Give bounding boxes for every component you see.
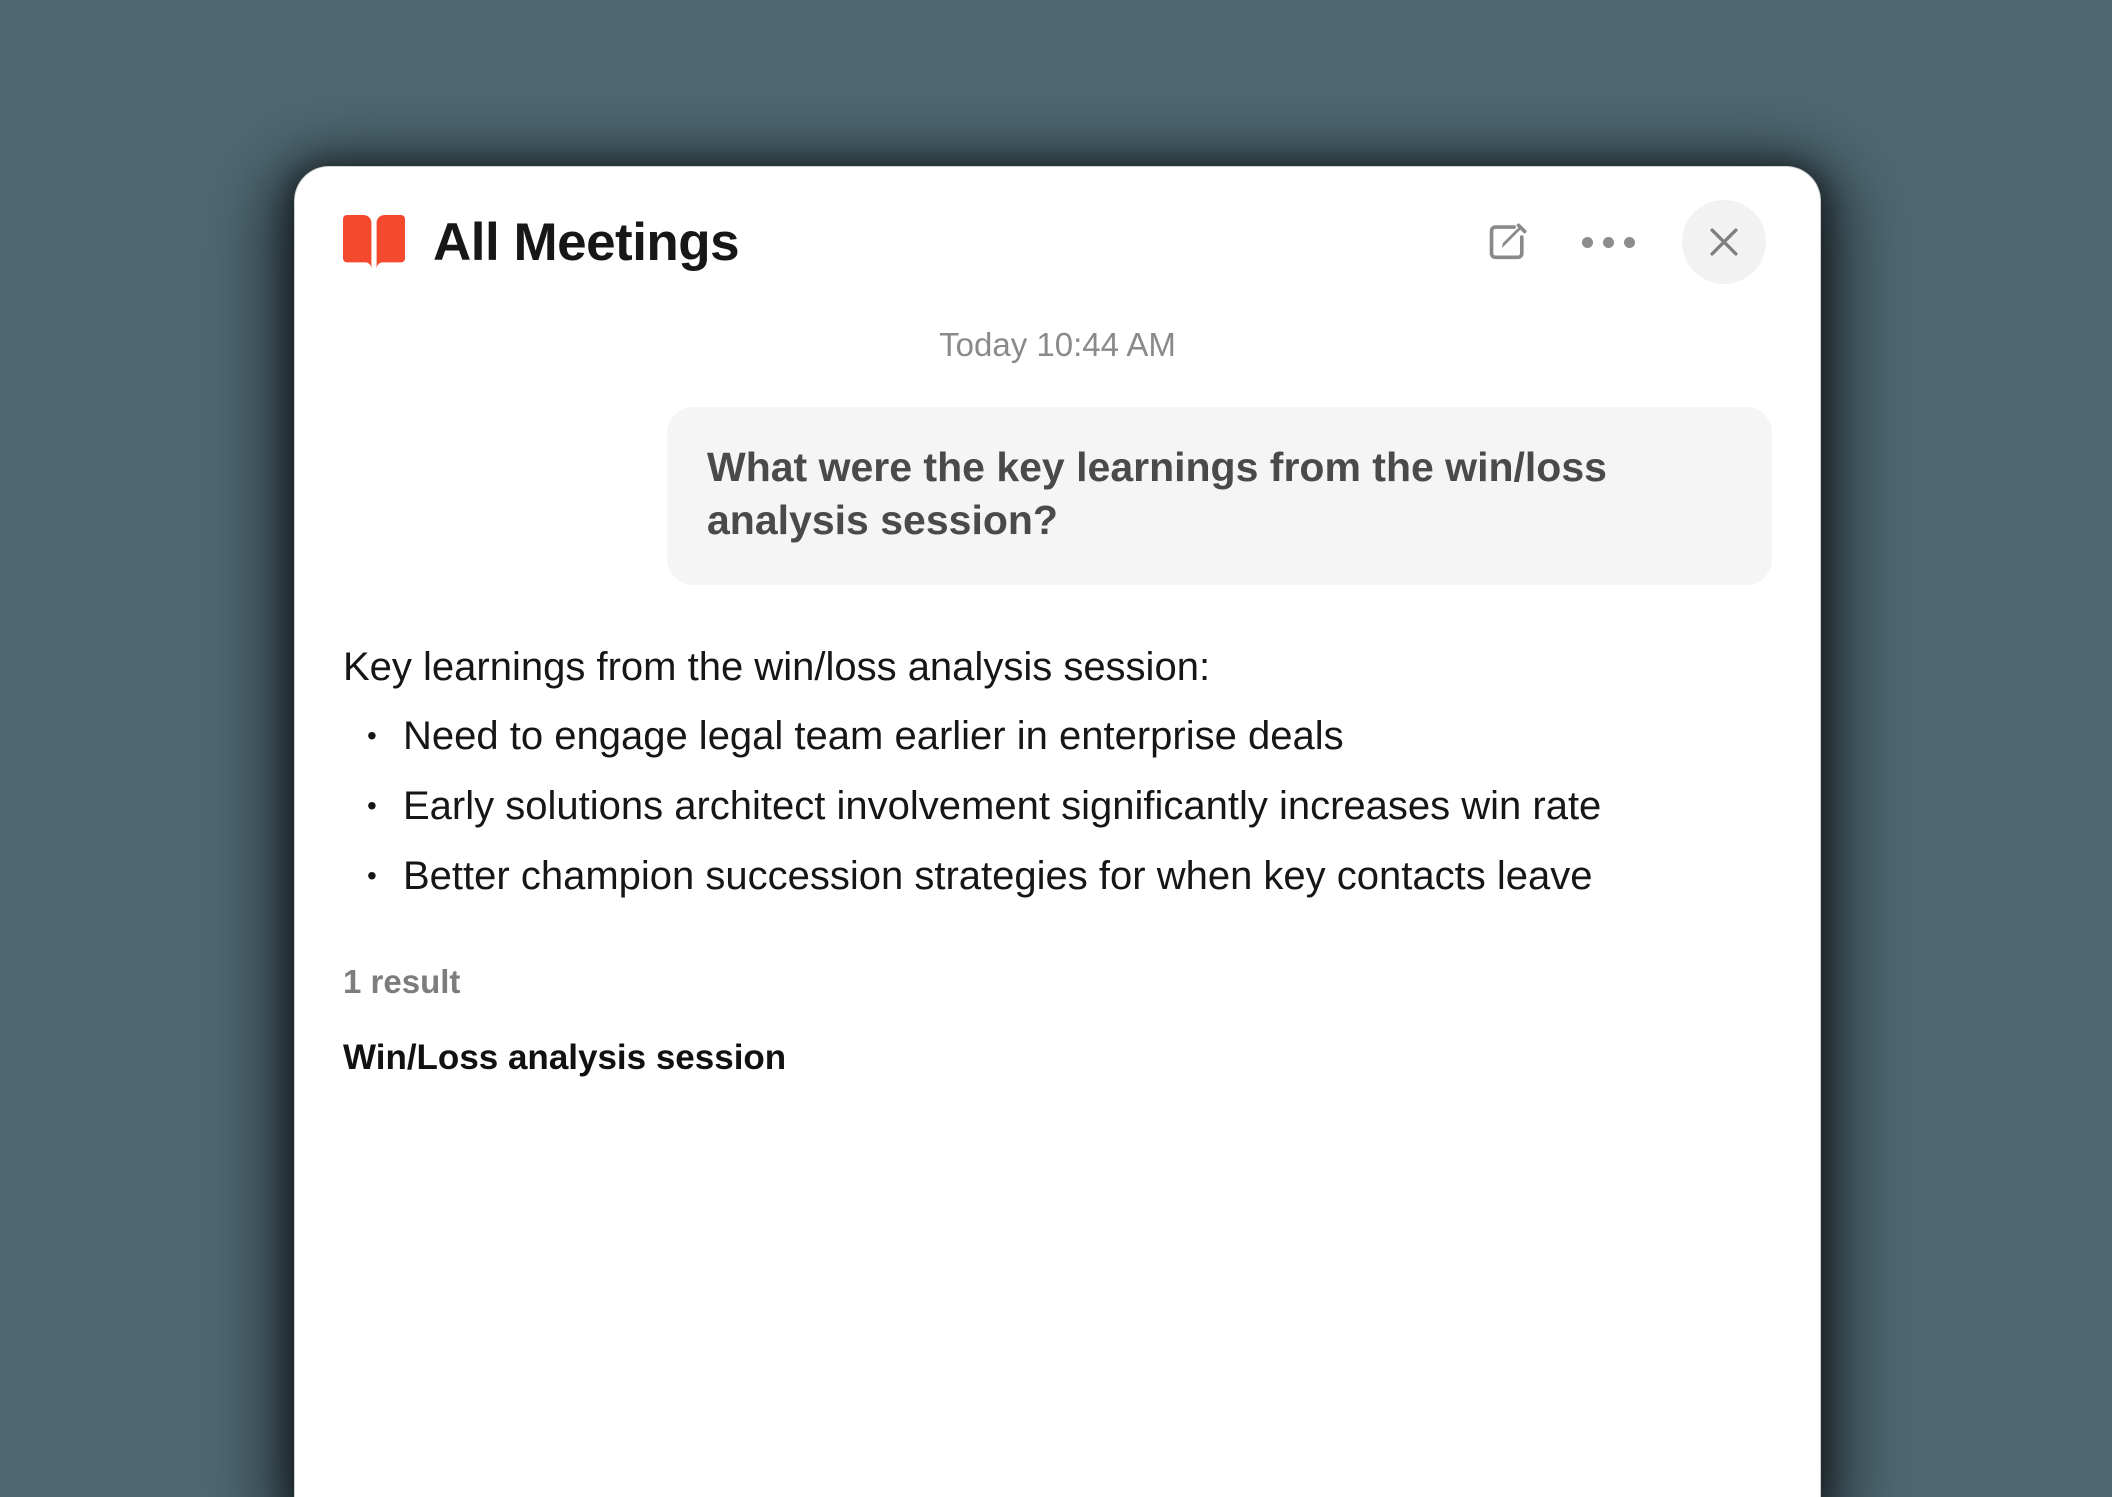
answer-bullet-item: Need to engage legal team earlier in ent… — [343, 708, 1772, 764]
panel-header-left: All Meetings — [343, 215, 1480, 269]
page-title: All Meetings — [433, 216, 739, 269]
open-book-icon — [343, 215, 405, 269]
close-button[interactable] — [1682, 200, 1766, 284]
panel-header: All Meetings — [295, 167, 1820, 317]
close-icon — [1702, 220, 1746, 264]
result-list-item[interactable]: Win/Loss analysis session — [343, 1036, 1772, 1080]
conversation-area: Today 10:44 AM What were the key learnin… — [295, 325, 1820, 1079]
more-options-button[interactable] — [1576, 214, 1640, 270]
compose-button[interactable] — [1480, 214, 1536, 270]
answer-bullet-list: Need to engage legal team earlier in ent… — [343, 708, 1772, 904]
all-meetings-panel: All Meetings — [295, 167, 1820, 1497]
answer-bullet-item: Better champion succession strategies fo… — [343, 848, 1772, 904]
compose-icon — [1485, 219, 1531, 265]
panel-header-actions — [1480, 200, 1766, 284]
answer-bullet-item: Early solutions architect involvement si… — [343, 778, 1772, 834]
answer-intro-text: Key learnings from the win/loss analysis… — [343, 641, 1772, 694]
user-message-bubble: What were the key learnings from the win… — [667, 407, 1772, 586]
results-count-label: 1 result — [343, 962, 1772, 1002]
more-horizontal-icon — [1582, 237, 1635, 248]
results-section: 1 result Win/Loss analysis session — [343, 962, 1772, 1079]
assistant-answer: Key learnings from the win/loss analysis… — [343, 641, 1772, 904]
conversation-timestamp: Today 10:44 AM — [343, 325, 1772, 365]
user-message-text: What were the key learnings from the win… — [707, 441, 1732, 548]
user-message-row: What were the key learnings from the win… — [343, 407, 1772, 586]
